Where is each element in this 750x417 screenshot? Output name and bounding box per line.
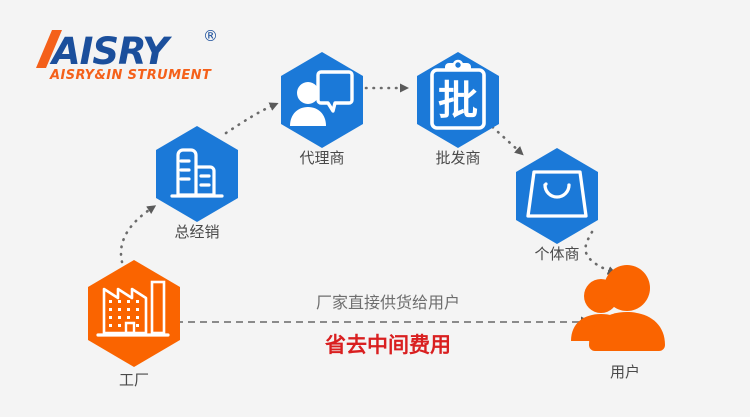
connector-merchant-to-user [585,232,612,272]
node-factory[interactable]: 工厂 [88,260,180,389]
connector-factory-to-distributor [121,208,152,262]
clipboard-char: 批 [438,78,478,124]
node-label: 批发商 [435,149,480,167]
node-label: 个体商 [534,245,579,263]
node-wholesaler[interactable]: 批 批发商 [417,52,499,167]
connector-distributor-to-agent [226,105,274,133]
node-user[interactable]: 用户 [571,265,665,381]
node-general-distributor[interactable]: 总经销 [156,126,238,241]
node-label: 工厂 [119,371,149,389]
node-label: 用户 [610,363,640,381]
infographic-canvas: AISRY ® AISRY&IN STRUMENT [0,0,750,417]
hexagon-shape [88,260,180,367]
users-icon [571,265,665,351]
node-label: 总经销 [174,223,219,241]
direct-route-caption-top: 厂家直接供货给用户 [316,293,460,312]
direct-route-caption-bottom: 省去中间费用 [324,333,451,357]
node-agent[interactable]: 代理商 [281,52,363,167]
supply-chain-diagram: 总经销 代理商 批 批发商 [0,0,750,417]
node-label: 代理商 [299,149,344,167]
clipboard-icon: 批 [432,61,484,128]
